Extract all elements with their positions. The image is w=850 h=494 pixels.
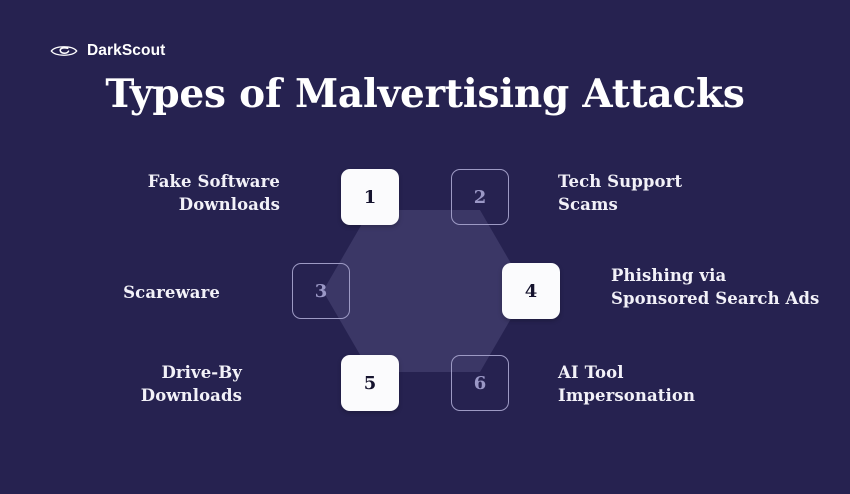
- attack-label-ai-tool-impersonation: AI ToolImpersonation: [558, 361, 798, 408]
- hexagon-background-shape: [0, 0, 850, 494]
- step-number-1[interactable]: 1: [341, 169, 399, 225]
- step-number-2[interactable]: 2: [451, 169, 509, 225]
- step-number-5-value: 5: [364, 373, 377, 394]
- step-number-6-value: 6: [474, 373, 487, 394]
- attack-label-phishing-sponsored-search-ads: Phishing viaSponsored Search Ads: [611, 264, 846, 311]
- attack-label-scareware: Scareware: [10, 281, 220, 304]
- step-number-4[interactable]: 4: [502, 263, 560, 319]
- step-number-3[interactable]: 3: [292, 263, 350, 319]
- malvertising-hexagon-diagram: 1 2 3 4 5 6 Fake SoftwareDownloads Tech …: [0, 0, 850, 494]
- step-number-3-value: 3: [315, 281, 328, 302]
- step-number-1-value: 1: [364, 187, 377, 208]
- step-number-5[interactable]: 5: [341, 355, 399, 411]
- step-number-4-value: 4: [525, 281, 538, 302]
- attack-label-drive-by-downloads: Drive-ByDownloads: [22, 361, 242, 408]
- attack-label-tech-support-scams: Tech SupportScams: [558, 170, 788, 217]
- step-number-2-value: 2: [474, 187, 487, 208]
- attack-label-fake-software-downloads: Fake SoftwareDownloads: [50, 170, 280, 217]
- step-number-6[interactable]: 6: [451, 355, 509, 411]
